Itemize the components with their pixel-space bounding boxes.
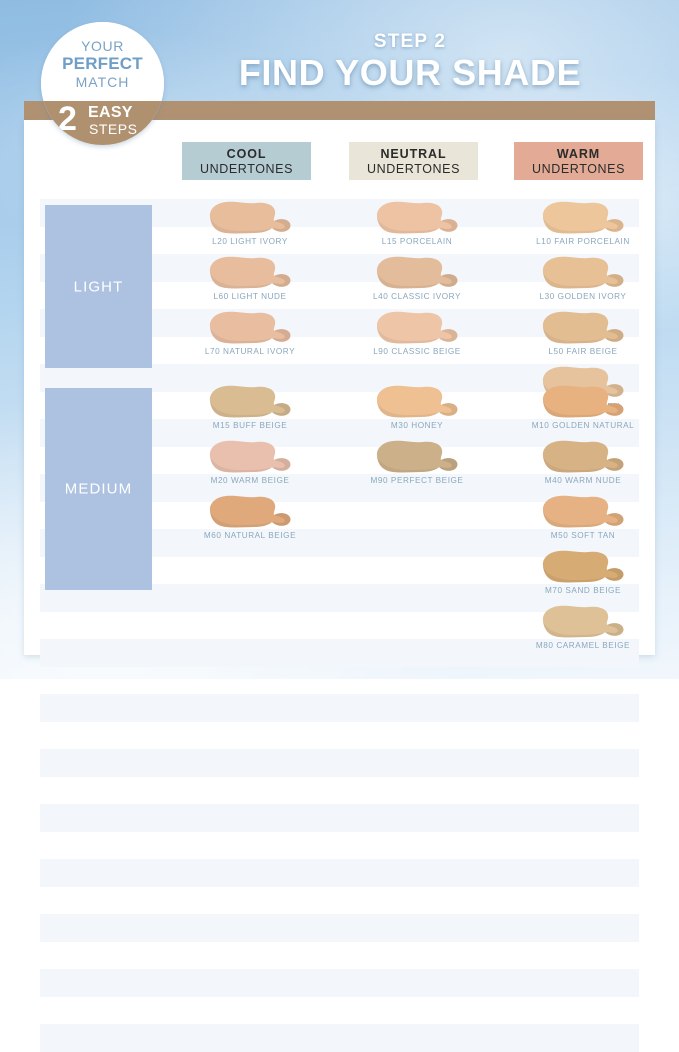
shade-label: L60 LIGHT NUDE [175, 292, 325, 301]
foundation-swatch-icon [537, 384, 629, 420]
shade-label: L40 CLASSIC IVORY [342, 292, 492, 301]
shade-label: M15 BUFF BEIGE [175, 421, 325, 430]
depth-block-light: LIGHT [45, 205, 152, 368]
shade-label: M80 CARAMEL BEIGE [508, 641, 658, 650]
shade-cell[interactable]: M50 SOFT TAN [508, 494, 658, 540]
column-header-warm: WARM UNDERTONES [514, 142, 643, 180]
foundation-swatch-icon [204, 384, 296, 420]
row-stripe [40, 859, 639, 887]
shade-cell[interactable]: M70 SAND BEIGE [508, 549, 658, 595]
shade-label: L90 CLASSIC BEIGE [342, 347, 492, 356]
page-title: FIND YOUR SHADE [170, 52, 650, 94]
shade-label: L10 FAIR PORCELAIN [508, 237, 658, 246]
foundation-swatch-icon [204, 255, 296, 291]
shade-cell[interactable]: L50 FAIR BEIGE [508, 310, 658, 356]
foundation-swatch-icon [204, 439, 296, 475]
shade-label: M70 SAND BEIGE [508, 586, 658, 595]
badge-perfect-label: PERFECT [41, 54, 164, 74]
foundation-swatch-icon [204, 310, 296, 346]
shade-cell[interactable]: L40 CLASSIC IVORY [342, 255, 492, 301]
foundation-swatch-icon [537, 604, 629, 640]
foundation-swatch-icon [537, 310, 629, 346]
shade-cell[interactable]: M30 HONEY [342, 384, 492, 430]
shade-cell[interactable]: L20 LIGHT IVORY [175, 200, 325, 246]
foundation-swatch-icon [204, 200, 296, 236]
step-label: STEP 2 [170, 31, 650, 53]
column-header-warm-title: WARM [514, 147, 643, 162]
shade-label: L20 LIGHT IVORY [175, 237, 325, 246]
shade-cell[interactable]: M90 PERFECT BEIGE [342, 439, 492, 485]
column-header-cool-title: COOL [182, 147, 311, 162]
foundation-swatch-icon [371, 439, 463, 475]
column-header-warm-subtitle: UNDERTONES [514, 162, 643, 177]
shade-cell[interactable]: M60 NATURAL BEIGE [175, 494, 325, 540]
badge-easy-label: EASY [88, 104, 133, 122]
badge-step-number: 2 [58, 102, 77, 136]
shade-label: M50 SOFT TAN [508, 531, 658, 540]
shade-label: M30 HONEY [342, 421, 492, 430]
shade-label: L70 NATURAL IVORY [175, 347, 325, 356]
shade-cell[interactable]: M10 GOLDEN NATURAL [508, 384, 658, 430]
column-header-cool-subtitle: UNDERTONES [182, 162, 311, 177]
foundation-swatch-icon [537, 255, 629, 291]
row-stripe [40, 804, 639, 832]
perfect-match-badge: YOUR PERFECT MATCH 2 EASY STEPS [41, 22, 164, 145]
shade-label: M10 GOLDEN NATURAL [508, 421, 658, 430]
foundation-swatch-icon [537, 439, 629, 475]
shade-label: L50 FAIR BEIGE [508, 347, 658, 356]
depth-label-light: LIGHT [45, 278, 152, 295]
row-stripe [40, 1024, 639, 1052]
badge-steps-label: STEPS [89, 121, 137, 137]
foundation-swatch-icon [537, 494, 629, 530]
row-stripe [40, 969, 639, 997]
shade-cell[interactable]: L60 LIGHT NUDE [175, 255, 325, 301]
shade-label: L15 PORCELAIN [342, 237, 492, 246]
shade-label: M40 WARM NUDE [508, 476, 658, 485]
column-header-neutral: NEUTRAL UNDERTONES [349, 142, 478, 180]
shade-cell[interactable]: L70 NATURAL IVORY [175, 310, 325, 356]
shade-cell[interactable]: L15 PORCELAIN [342, 200, 492, 246]
shade-label: M90 PERFECT BEIGE [342, 476, 492, 485]
foundation-swatch-icon [537, 549, 629, 585]
badge-your-label: YOUR [41, 38, 164, 54]
badge-match-label: MATCH [41, 74, 164, 90]
depth-label-medium: MEDIUM [45, 481, 152, 498]
foundation-swatch-icon [371, 255, 463, 291]
shade-cell[interactable]: M40 WARM NUDE [508, 439, 658, 485]
shade-label: M60 NATURAL BEIGE [175, 531, 325, 540]
column-header-neutral-subtitle: UNDERTONES [349, 162, 478, 177]
row-stripe [40, 749, 639, 777]
shade-cell[interactable]: M80 CARAMEL BEIGE [508, 604, 658, 650]
shade-cell[interactable]: L90 CLASSIC BEIGE [342, 310, 492, 356]
shade-label: M20 WARM BEIGE [175, 476, 325, 485]
foundation-swatch-icon [537, 200, 629, 236]
foundation-swatch-icon [371, 310, 463, 346]
shade-cell[interactable]: L10 FAIR PORCELAIN [508, 200, 658, 246]
row-stripe [40, 694, 639, 722]
shade-cell[interactable]: L30 GOLDEN IVORY [508, 255, 658, 301]
shade-cell[interactable]: M20 WARM BEIGE [175, 439, 325, 485]
column-header-neutral-title: NEUTRAL [349, 147, 478, 162]
shade-cell[interactable]: M15 BUFF BEIGE [175, 384, 325, 430]
depth-block-medium: MEDIUM [45, 388, 152, 590]
foundation-swatch-icon [371, 384, 463, 420]
foundation-swatch-icon [371, 200, 463, 236]
row-stripe [40, 914, 639, 942]
foundation-swatch-icon [204, 494, 296, 530]
column-header-cool: COOL UNDERTONES [182, 142, 311, 180]
shade-label: L30 GOLDEN IVORY [508, 292, 658, 301]
